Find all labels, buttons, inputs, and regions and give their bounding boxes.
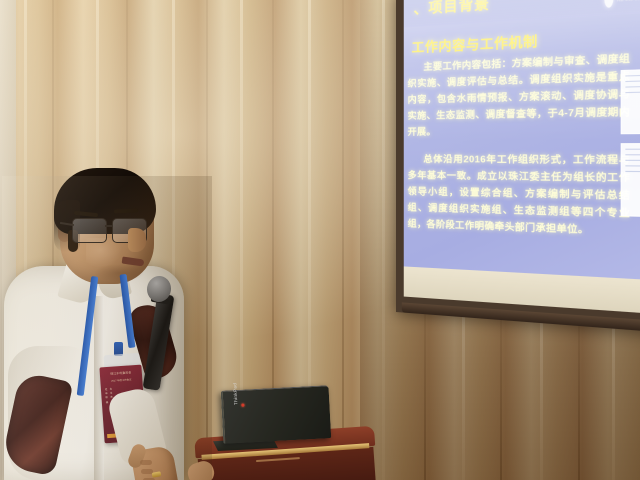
slide-table-box (621, 143, 640, 217)
screen-surface: 、项目背景 珠江水利科学研究院 Pearl River Water Resour… (404, 0, 640, 315)
projection-screen: 、项目背景 珠江水利科学研究院 Pearl River Water Resour… (396, 0, 640, 312)
table-line (625, 91, 640, 93)
logo-text-block: 珠江水利科学研究院 Pearl River Water Resources (617, 0, 640, 3)
slide-heading: 工作内容与工作机制 (412, 30, 538, 56)
table-line (625, 149, 640, 150)
table-line (625, 154, 640, 155)
logo-english-text: Pearl River Water Resources (617, 0, 640, 3)
slide-paragraph: 主要工作内容包括：方案编制与审查、调度组织实施、调度评估与总结。调度组织实施是重… (408, 50, 631, 140)
laptop-lid: ThinkPad (221, 385, 332, 444)
knuckle (140, 460, 152, 465)
badge-header: 珠江水利委员会 (104, 370, 138, 376)
curtain-fold (342, 0, 344, 480)
thinkpad-logo-dot-icon (241, 404, 244, 407)
glasses-lens-left (72, 218, 107, 243)
laptop[interactable]: ThinkPad (221, 385, 330, 446)
table-line (625, 171, 640, 172)
speaker: 珠江水利委员会 2017 年度工作会议 姓 名 单 位 职 务 编 号 (2, 176, 212, 480)
presentation-photo-scene: 、项目背景 珠江水利科学研究院 Pearl River Water Resour… (0, 0, 640, 480)
screen-frame: 、项目背景 珠江水利科学研究院 Pearl River Water Resour… (396, 0, 640, 333)
presentation-slide: 、项目背景 珠江水利科学研究院 Pearl River Water Resour… (404, 0, 640, 281)
badge-subheader: 2017 年度工作会议 (104, 377, 138, 383)
table-line (625, 86, 640, 88)
logo-oval-icon (604, 0, 613, 8)
chin-shadow (94, 264, 144, 282)
table-line (625, 74, 640, 76)
slide-body: 主要工作内容包括：方案编制与审查、调度组织实施、调度评估与总结。调度组织实施是重… (408, 50, 631, 252)
table-line (625, 160, 640, 161)
glasses-bridge (105, 225, 112, 227)
slide-table-box (621, 69, 640, 135)
slide-paragraph: 总体沿用2016年工作组织形式，工作流程与多年基本一致。成立以珠江委主任为组长的… (408, 151, 631, 240)
table-line (625, 80, 640, 82)
nose (128, 228, 146, 252)
table-line (625, 165, 640, 166)
